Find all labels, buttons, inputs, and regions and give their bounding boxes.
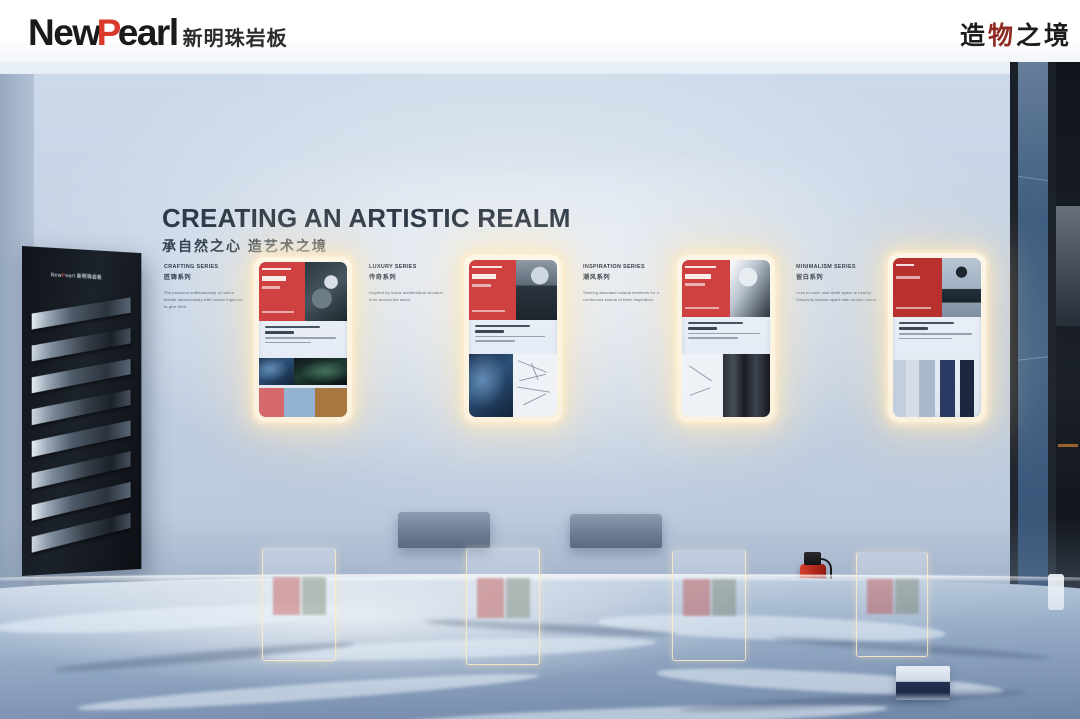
headline-english: CREATING AN ARTISTIC REALM	[162, 203, 571, 234]
series-label-en: INSPIRATION SERIES	[583, 264, 665, 271]
right-wall-highlight	[1056, 206, 1080, 326]
tile-sample-rack[interactable]: NewPearl 新明珠岩板	[22, 246, 141, 576]
sketch-illustration	[513, 354, 557, 417]
series-description: Inspired by iconic architectural wonders…	[369, 290, 451, 304]
wall-headline: CREATING AN ARTISTIC REALM 承自然之心 造艺术之境	[162, 203, 571, 256]
panel-portrait-image	[516, 260, 557, 320]
display-panel-crafting[interactable]	[254, 257, 352, 422]
stone-sample[interactable]	[32, 390, 131, 426]
logo-text-p: P	[97, 12, 120, 54]
panel-portrait-image	[942, 258, 981, 317]
corner-title: 造物之境	[960, 16, 1072, 52]
series-text-luxury: LUXURY SERIES 传奇系列 Inspired by iconic ar…	[369, 264, 451, 304]
panel-portrait-image	[730, 260, 770, 317]
logo-text-earl: earl	[118, 12, 178, 54]
display-panel-luxury[interactable]	[464, 255, 562, 422]
chair-left[interactable]	[398, 512, 490, 548]
series-label-cn: 留白系列	[796, 272, 878, 281]
panel-reflection-crafting	[262, 548, 336, 661]
stone-sample[interactable]	[32, 328, 131, 361]
logo-text-new: New	[28, 12, 100, 54]
corner-title-accent: 物	[988, 22, 1016, 50]
panel-color-swatches	[893, 360, 981, 417]
series-label-cn: 潮风系列	[583, 272, 665, 281]
panel-material-strip	[682, 354, 770, 417]
table-bottle-object[interactable]	[1048, 574, 1064, 610]
stone-sample[interactable]	[32, 451, 131, 489]
series-label-en: MINIMALISM SERIES	[796, 264, 878, 271]
corner-title-part1: 造	[960, 22, 988, 50]
rack-slots	[32, 301, 136, 562]
stone-sample[interactable]	[32, 420, 131, 457]
panel-material-strip	[259, 358, 347, 384]
right-wall-accent-light	[1058, 444, 1078, 447]
panel-reflection-luxury	[466, 548, 540, 665]
series-text-minimalism: MINIMALISM SERIES 留白系列 Less is more, and…	[796, 264, 878, 304]
panel-reflection-minimalism	[856, 552, 928, 657]
stone-sample[interactable]	[32, 359, 131, 394]
series-description: The profound craftsmanship of nature ble…	[164, 290, 246, 310]
series-text-inspiration: INSPIRATION SERIES 潮风系列 Seeking abundant…	[583, 264, 665, 304]
extinguisher-handle	[804, 552, 821, 565]
chair-right[interactable]	[570, 514, 662, 548]
panel-material-strip	[469, 354, 557, 417]
panel-reflection-inspiration	[672, 550, 746, 661]
sketch-illustration	[682, 354, 723, 417]
series-text-crafting: CRAFTING SERIES 匠铸系列 The profound crafts…	[164, 264, 246, 311]
rack-brand-logo: NewPearl 新明珠岩板	[51, 271, 102, 280]
series-description: Less is more, and white space is beauty.…	[796, 290, 878, 304]
corner-title-part2: 之境	[1016, 22, 1072, 50]
stone-sample[interactable]	[32, 297, 131, 329]
stone-sample[interactable]	[32, 513, 131, 553]
series-label-en: LUXURY SERIES	[369, 264, 451, 271]
table-box-object[interactable]	[896, 666, 950, 700]
logo-text-chinese: 新明珠岩板	[183, 22, 288, 51]
display-panel-minimalism[interactable]	[888, 253, 986, 422]
panel-color-swatches	[259, 388, 347, 417]
display-panel-inspiration[interactable]	[677, 255, 775, 422]
newpearl-logo: New P earl 新明珠岩板	[28, 12, 288, 54]
showroom-screenshot: CREATING AN ARTISTIC REALM 承自然之心 造艺术之境 C…	[0, 0, 1080, 719]
showroom-interior: CREATING AN ARTISTIC REALM 承自然之心 造艺术之境 C…	[0, 46, 1080, 719]
brand-header-bar: New P earl 新明珠岩板 造物之境	[0, 0, 1080, 62]
series-label-en: CRAFTING SERIES	[164, 264, 246, 271]
series-description: Seeking abundant natural elements for a …	[583, 290, 665, 304]
series-label-cn: 传奇系列	[369, 272, 451, 281]
series-label-cn: 匠铸系列	[164, 272, 246, 281]
panel-portrait-image	[305, 262, 347, 321]
headline-chinese: 承自然之心 造艺术之境	[162, 236, 571, 256]
